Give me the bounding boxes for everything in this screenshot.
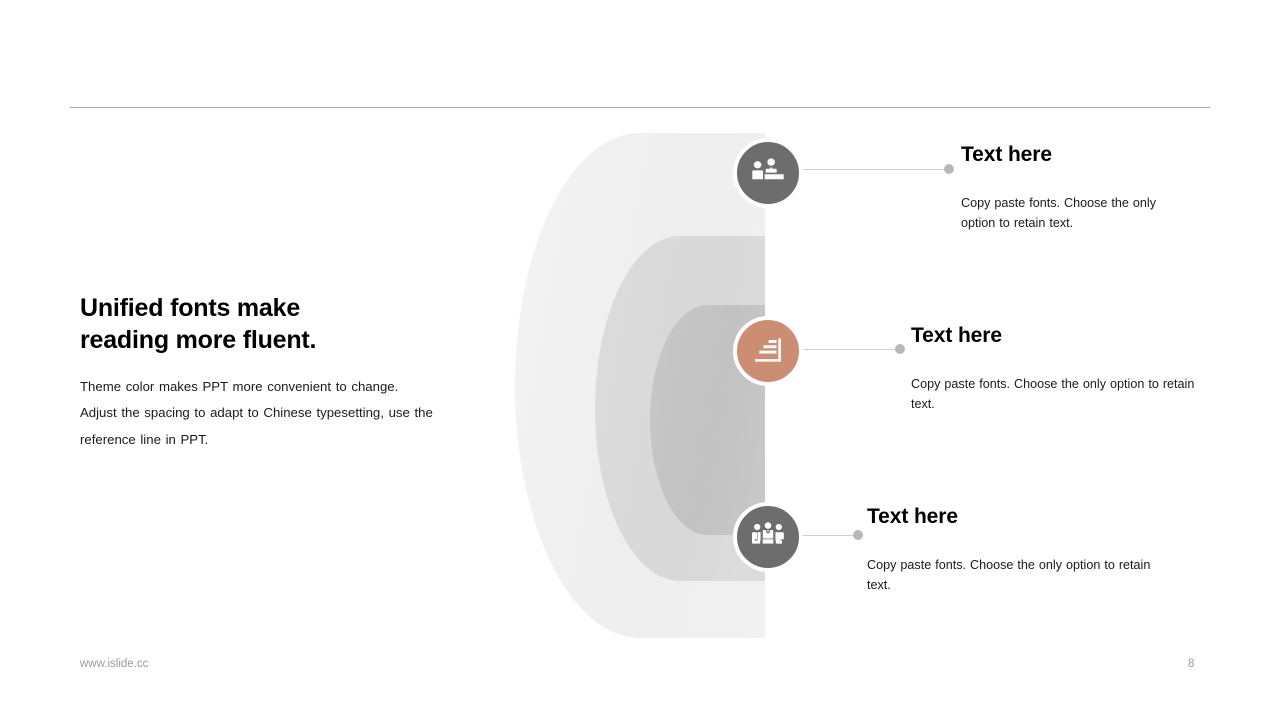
slide-canvas: Unified fonts make reading more fluent. …: [0, 0, 1280, 720]
item-body-1: Copy paste fonts. Choose the only option…: [961, 193, 1189, 234]
item-title-1: Text here: [961, 143, 1052, 167]
bar-chart-icon: [753, 336, 783, 366]
connector-dot-3: [853, 530, 863, 540]
arc-outer: [515, 133, 765, 638]
item-title-3: Text here: [867, 505, 958, 529]
left-text-block: Unified fonts make reading more fluent. …: [80, 292, 480, 453]
connector-dot-1: [944, 164, 954, 174]
item-title-2: Text here: [911, 324, 1002, 348]
footer-url[interactable]: www.islide.cc: [80, 658, 148, 670]
item-icon-circle-3[interactable]: [733, 502, 803, 572]
item-body-2: Copy paste fonts. Choose the only option…: [911, 374, 1201, 415]
connector-line-2: [800, 349, 902, 350]
item-icon-circle-2[interactable]: [733, 316, 803, 386]
connector-line-1: [800, 169, 950, 170]
page-description: Theme color makes PPT more convenient to…: [80, 374, 470, 453]
footer-page-number: 8: [1188, 658, 1194, 670]
page-title: Unified fonts make reading more fluent.: [80, 292, 480, 356]
item-icon-circle-1[interactable]: [733, 138, 803, 208]
item-body-3: Copy paste fonts. Choose the only option…: [867, 555, 1157, 596]
reception-desk-people-icon: [752, 157, 784, 189]
header-divider: [70, 107, 1210, 108]
team-group-icon: [752, 522, 784, 552]
connector-dot-2: [895, 344, 905, 354]
connector-line-3: [800, 535, 860, 536]
